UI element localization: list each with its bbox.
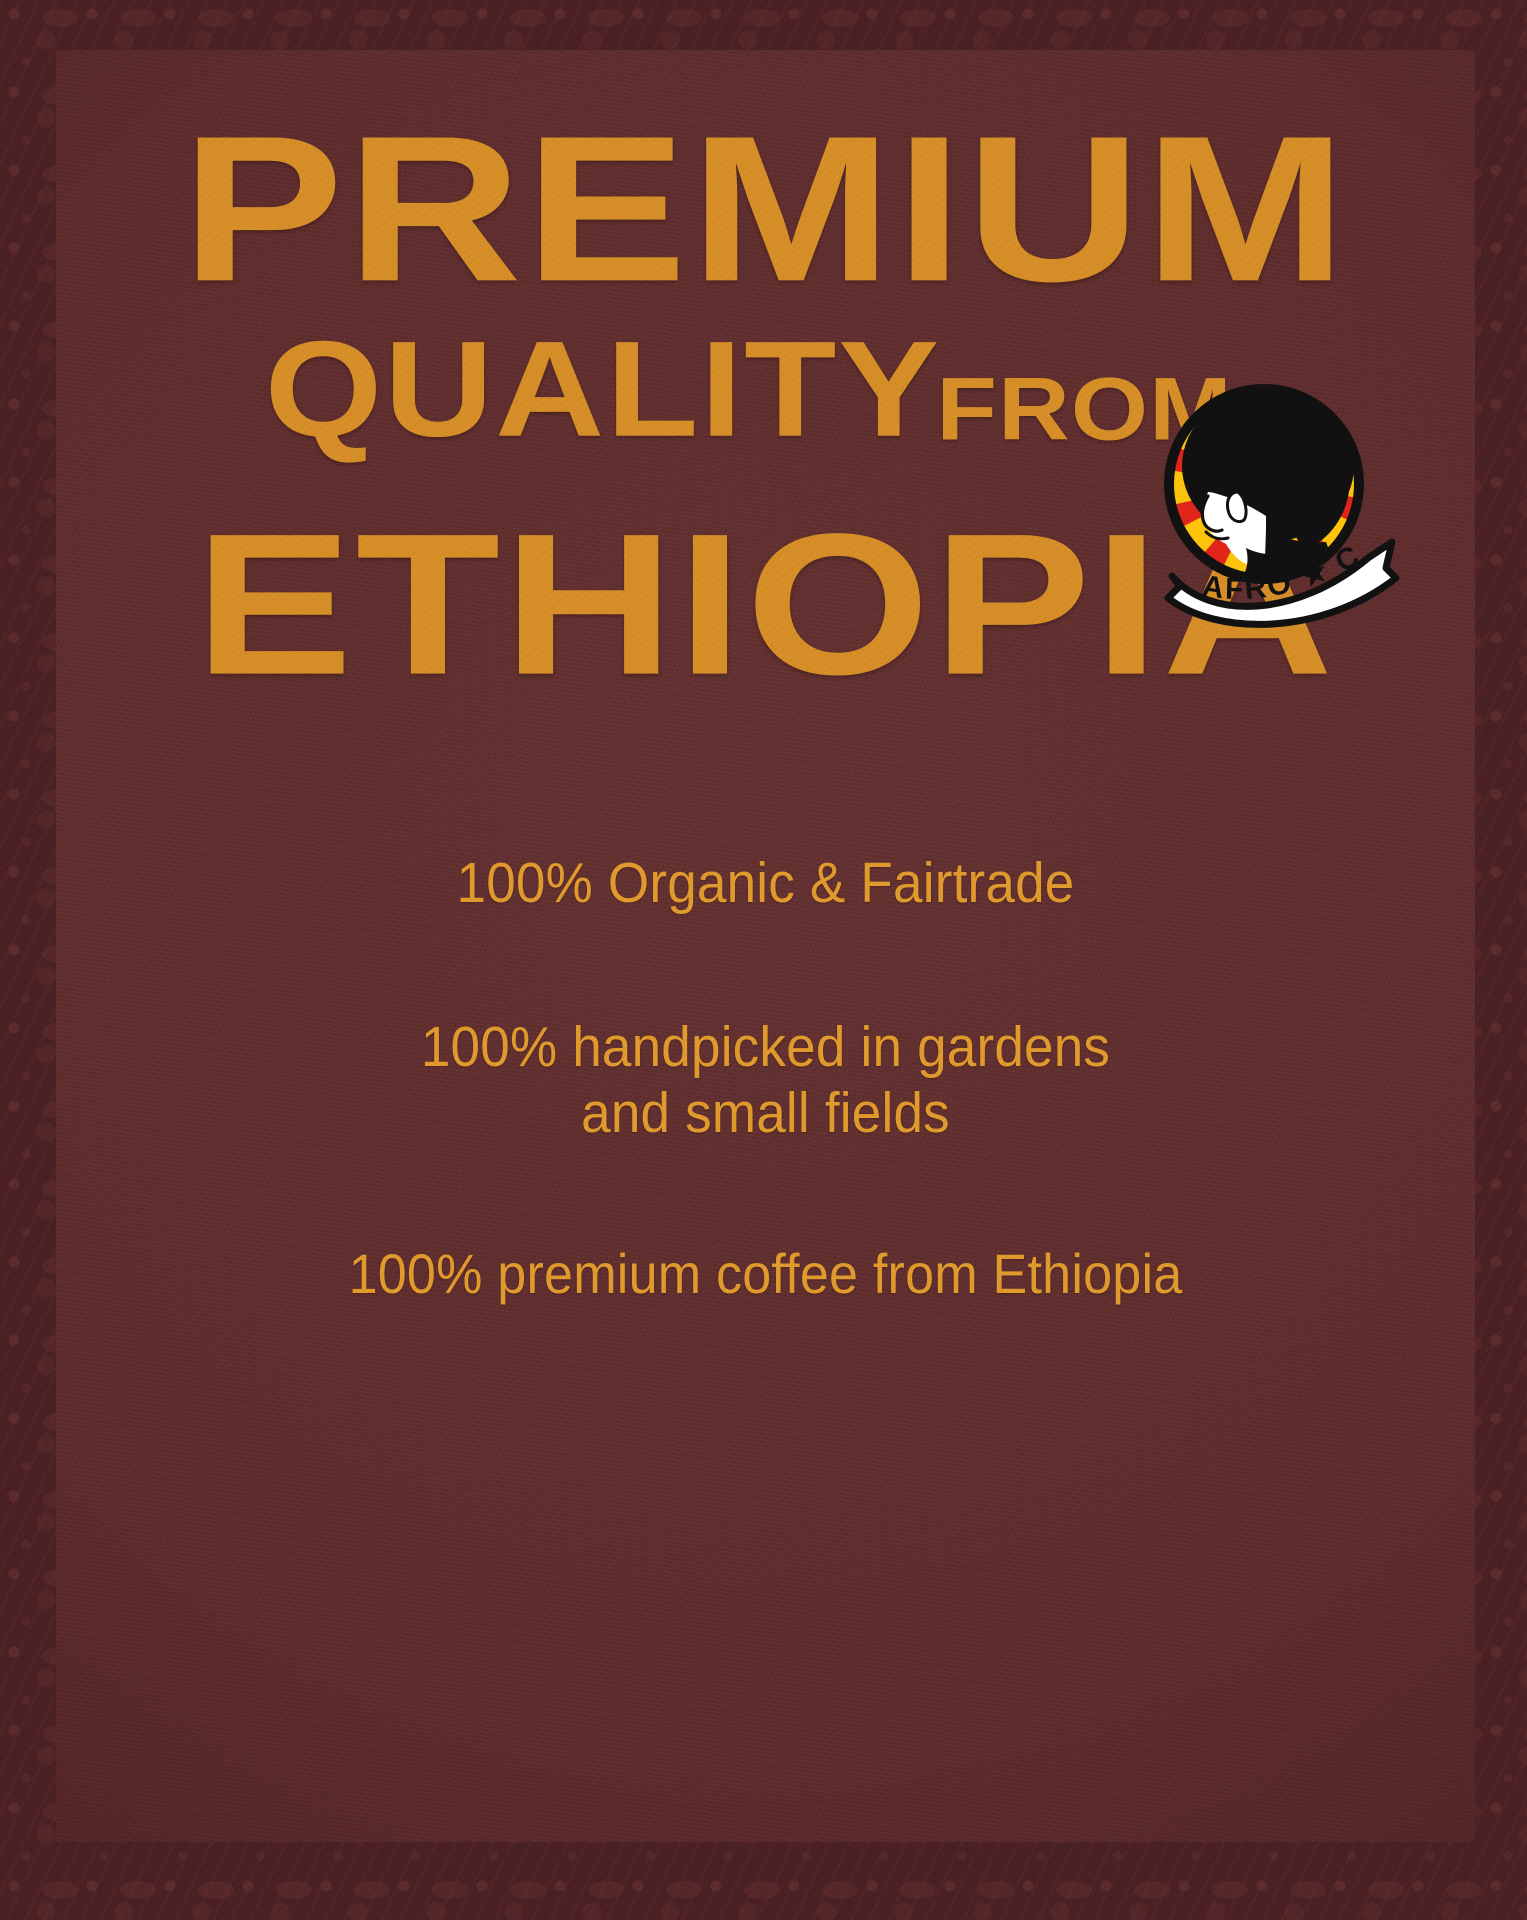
poster-inner-field: PREMIUM QUALITY FROM ETHIOPIA xyxy=(56,50,1475,1842)
claim-premium-coffee: 100% premium coffee from Ethiopia xyxy=(106,1242,1426,1307)
claim-handpicked-line1: 100% handpicked in gardens xyxy=(421,1015,1110,1079)
headline-quality: QUALITY xyxy=(265,327,941,452)
claim-organic-fairtrade: 100% Organic & Fairtrade xyxy=(106,850,1426,916)
claims-block: 100% Organic & Fairtrade 100% handpicked… xyxy=(56,850,1475,1307)
claim-handpicked: 100% handpicked in gardens and small fie… xyxy=(106,1014,1426,1146)
claim-handpicked-line2: and small fields xyxy=(106,1080,1426,1146)
headline-premium: PREMIUM xyxy=(56,114,1475,305)
poster-content: PREMIUM QUALITY FROM ETHIOPIA xyxy=(56,50,1475,1842)
poster-root: PREMIUM QUALITY FROM ETHIOPIA xyxy=(0,0,1527,1920)
afro-coffee-logo[interactable]: AFRO ★ COFFEE xyxy=(1146,380,1406,620)
